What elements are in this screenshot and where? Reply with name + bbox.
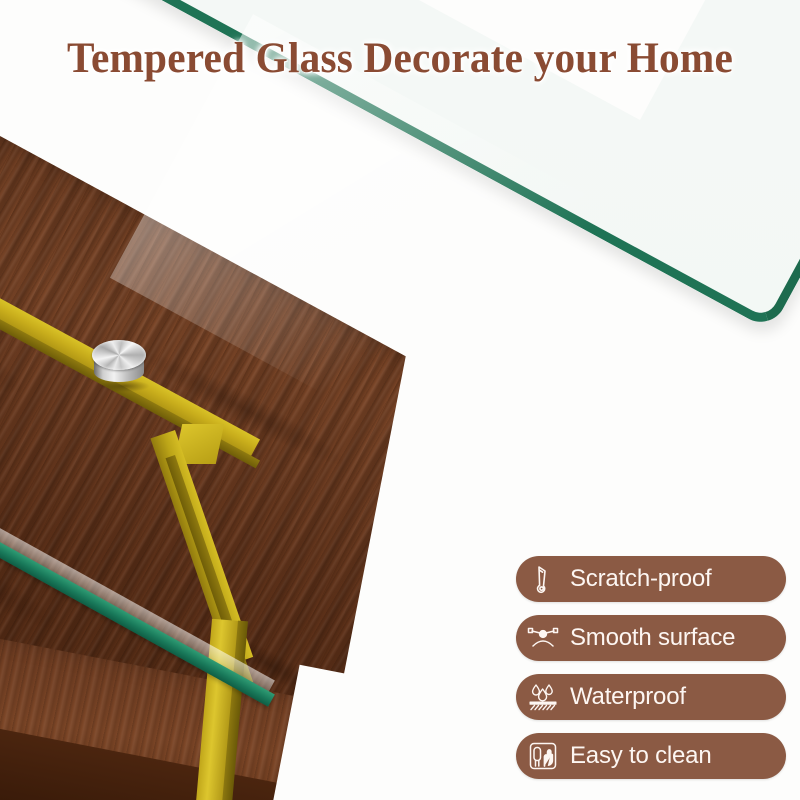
feature-badge-smooth-surface[interactable]: Smooth surface <box>516 615 786 661</box>
water-drops-icon <box>516 674 570 720</box>
feature-badge-waterproof[interactable]: Waterproof <box>516 674 786 720</box>
feature-badge-label: Smooth surface <box>570 626 786 650</box>
feature-badge-label: Scratch-proof <box>570 567 786 591</box>
wiping-hand-icon <box>516 733 570 779</box>
brushed-steel-knob <box>92 340 148 392</box>
feature-badge-easy-to-clean[interactable]: Easy to clean <box>516 733 786 779</box>
feature-badge-label: Easy to clean <box>570 744 786 768</box>
utility-knife-icon <box>516 556 570 602</box>
knob-top-face <box>92 340 146 370</box>
feature-badge-list: Scratch-proof Smooth surface <box>516 556 786 779</box>
smooth-surface-icon <box>516 615 570 661</box>
feature-badge-label: Waterproof <box>570 685 786 709</box>
product-marketing-image: Tempered Glass Decorate your Home Scratc… <box>0 0 800 800</box>
feature-badge-scratch-proof[interactable]: Scratch-proof <box>516 556 786 602</box>
page-title: Tempered Glass Decorate your Home <box>16 34 784 83</box>
